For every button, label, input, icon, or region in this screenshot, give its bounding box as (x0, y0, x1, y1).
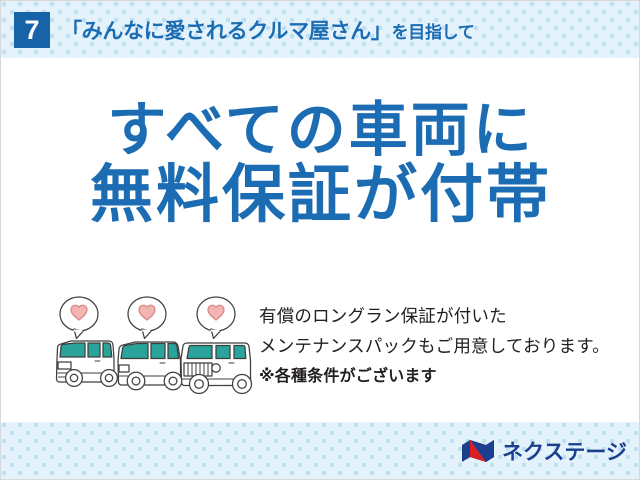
heart-bubble-2 (128, 297, 166, 339)
promo-banner: 7 「みんなに愛されるクルマ屋さん」を目指して すべての車両に 無料保証が付帯 (0, 0, 640, 480)
brand-logo-text: ネクステージ (502, 436, 627, 466)
description-line-2: メンテナンスパックもご用意しております。 (259, 332, 610, 362)
description-text: 有償のロングラン保証が付いた メンテナンスパックもご用意しております。 ※各種条… (259, 302, 610, 390)
cars-illustration-svg (53, 293, 258, 408)
section-number-badge: 7 (14, 12, 50, 48)
headline-line-1: すべての車両に (1, 98, 640, 161)
headline-line-2: 無料保証が付帯 (1, 161, 640, 228)
description-line-1: 有償のロングラン保証が付いた (259, 302, 610, 332)
cars-illustration (53, 293, 258, 408)
page-title: すべての車両に 無料保証が付帯 (1, 98, 640, 229)
header-title-tail: を目指して (392, 23, 475, 42)
footer-band: ネクステージ (1, 422, 640, 479)
car-kei-box-van (56, 341, 117, 386)
car-suv-wrangler (181, 343, 252, 394)
description-note: ※各種条件がございます (259, 362, 610, 390)
main-content: すべての車両に 無料保証が付帯 (1, 58, 640, 424)
header-title: 「みんなに愛されるクルマ屋さん」を目指して (61, 15, 475, 45)
header-content: 7 「みんなに愛されるクルマ屋さん」を目指して (1, 1, 640, 58)
heart-bubble-3 (197, 297, 235, 339)
detail-row: 有償のロングラン保証が付いた メンテナンスパックもご用意しております。 ※各種条… (1, 293, 640, 413)
nexstage-n-mark-icon (461, 438, 495, 464)
car-minivan (118, 342, 182, 390)
heart-bubble-1 (60, 297, 98, 339)
brand-logo: ネクステージ (461, 436, 627, 466)
header-title-quoted: 「みんなに愛されるクルマ屋さん」 (61, 20, 392, 43)
header-band: 7 「みんなに愛されるクルマ屋さん」を目指して (1, 1, 640, 58)
